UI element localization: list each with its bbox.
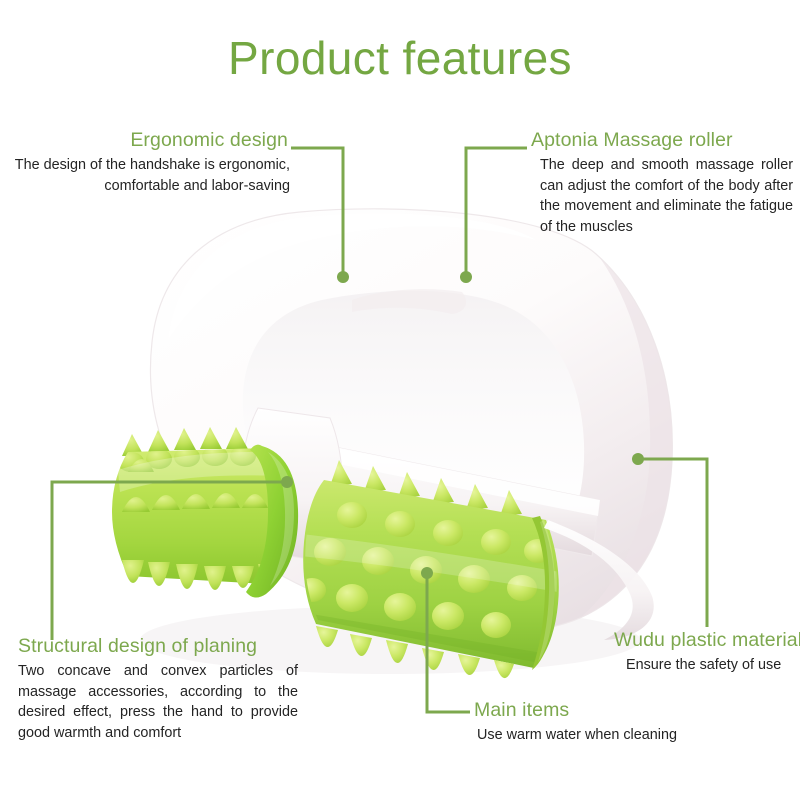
- callout-body: Ensure the safety of use: [614, 655, 800, 675]
- leader-dot-aptonia: [460, 271, 472, 283]
- callout-body: The design of the handshake is ergonomic…: [8, 155, 290, 196]
- callout-wudu-plastic-material: Wudu plastic material Ensure the safety …: [614, 628, 800, 676]
- callout-aptonia-massage-roller: Aptonia Massage roller The deep and smoo…: [531, 128, 793, 237]
- leader-dot-main-items: [421, 567, 433, 579]
- infographic-stage: Product features: [0, 0, 800, 800]
- leader-dot-wudu: [632, 453, 644, 465]
- callout-body: The deep and smooth massage roller can a…: [531, 155, 793, 237]
- callout-body: Use warm water when cleaning: [474, 725, 724, 745]
- leader-structural: [52, 482, 287, 640]
- callout-heading: Wudu plastic material: [614, 628, 800, 652]
- leader-dot-structural: [281, 476, 293, 488]
- callout-ergonomic-design: Ergonomic design The design of the hands…: [8, 128, 290, 196]
- leader-wudu: [638, 459, 707, 627]
- leader-main-items: [427, 574, 470, 712]
- leader-ergonomic: [291, 148, 343, 275]
- callout-heading: Main items: [474, 698, 724, 722]
- leader-aptonia: [466, 148, 527, 275]
- callout-heading: Aptonia Massage roller: [531, 128, 793, 152]
- callout-heading: Structural design of planing: [18, 634, 298, 658]
- leader-dot-ergonomic: [337, 271, 349, 283]
- callout-structural-design-of-planing: Structural design of planing Two concave…: [18, 634, 298, 743]
- callout-heading: Ergonomic design: [8, 128, 290, 152]
- callout-main-items: Main items Use warm water when cleaning: [474, 698, 724, 746]
- callout-body: Two concave and convex particles of mass…: [18, 661, 298, 743]
